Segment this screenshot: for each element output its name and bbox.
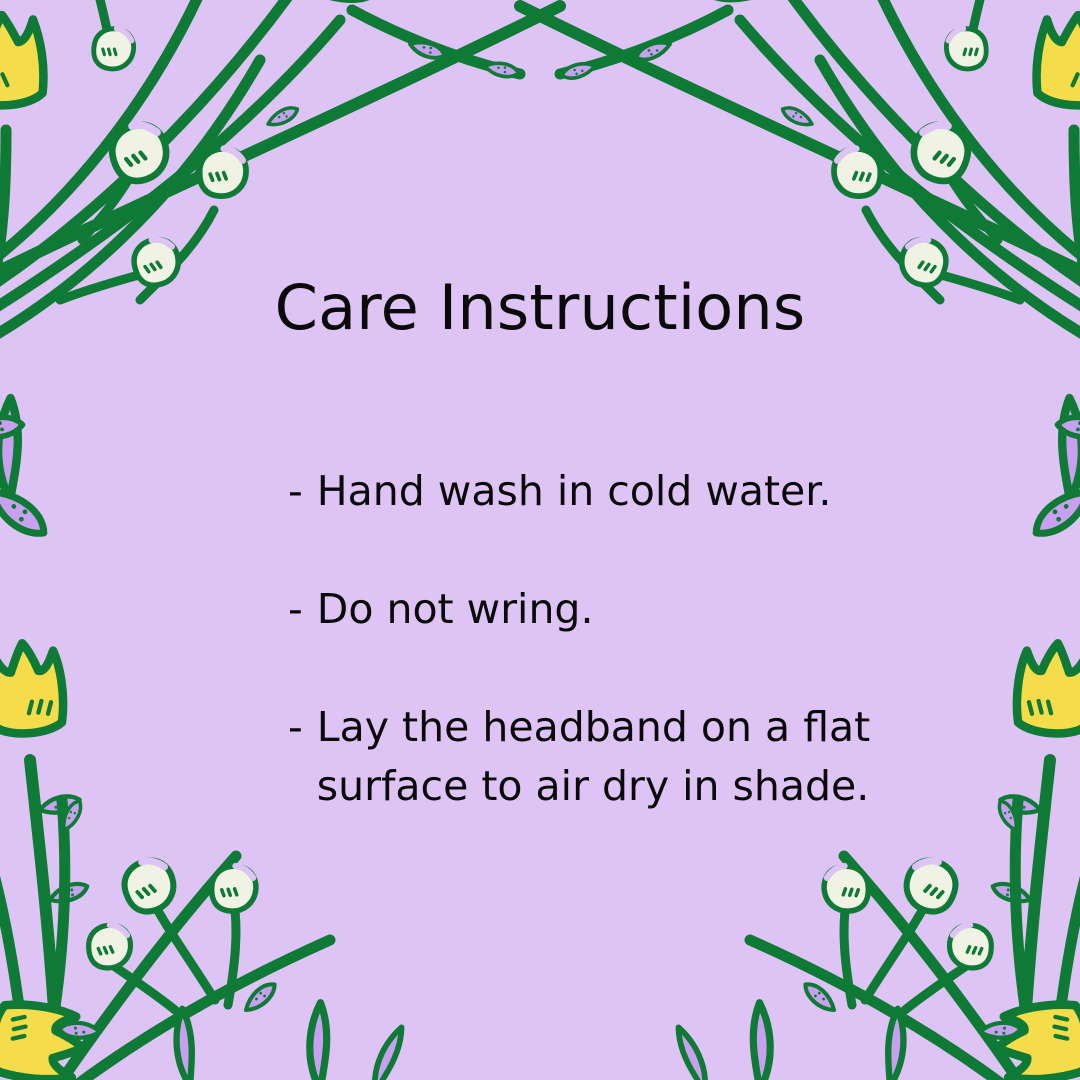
page-title: Care Instructions xyxy=(0,274,1080,342)
bullet-dash-icon: - xyxy=(288,698,303,756)
bullet-dash-icon: - xyxy=(288,462,303,520)
list-item: - Do not wring. xyxy=(288,580,928,638)
bullet-dash-icon: - xyxy=(288,580,303,638)
list-item-text: Do not wring. xyxy=(317,580,928,638)
list-item-text: Lay the headband on a flat surface to ai… xyxy=(317,698,928,814)
care-instructions-list: - Hand wash in cold water. - Do not wrin… xyxy=(288,462,928,815)
list-item-text: Hand wash in cold water. xyxy=(317,462,928,520)
list-item: - Hand wash in cold water. xyxy=(288,462,928,520)
care-instructions-card: Care Instructions - Hand wash in cold wa… xyxy=(0,0,1080,1080)
list-item: - Lay the headband on a flat surface to … xyxy=(288,698,928,814)
